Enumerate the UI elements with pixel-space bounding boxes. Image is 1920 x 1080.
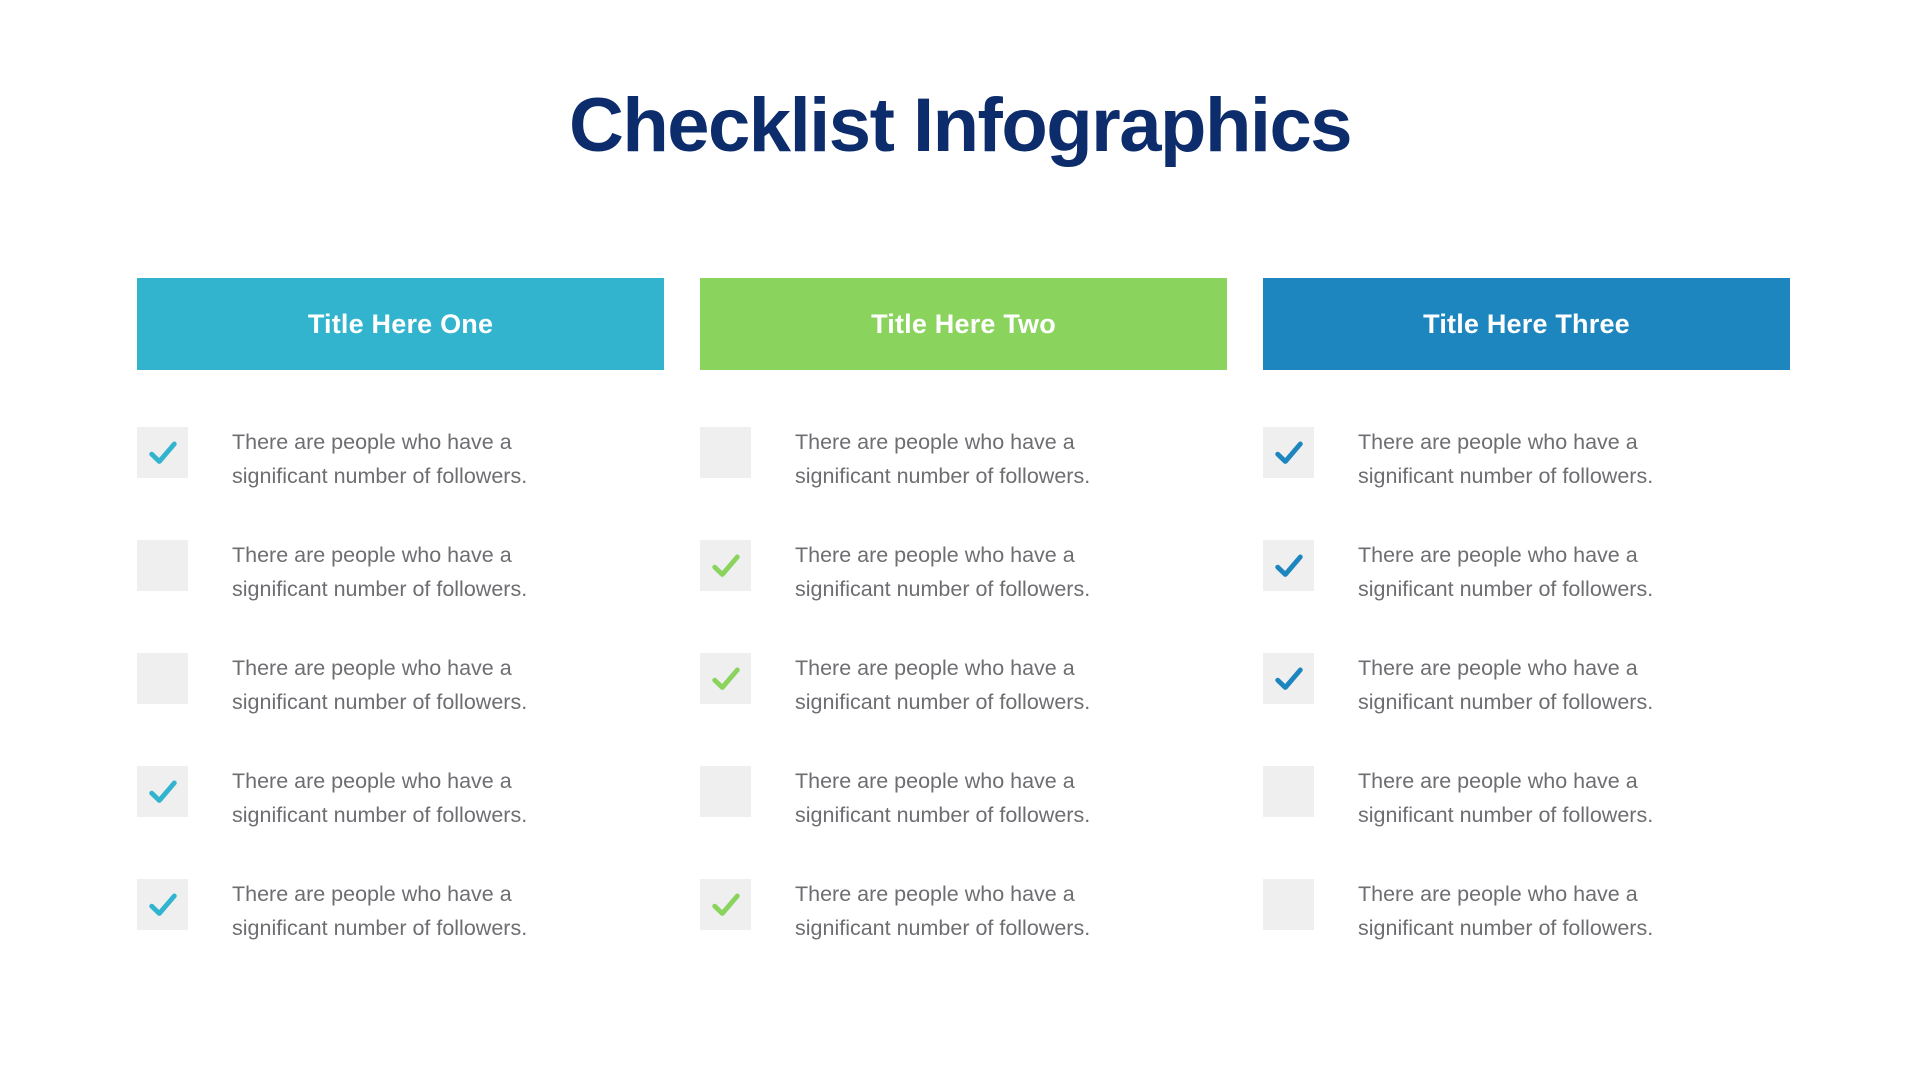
checklist-columns: Title Here OneThere are people who have … xyxy=(137,278,1790,990)
checklist-item[interactable]: There are people who have a significant … xyxy=(700,877,1227,990)
check-icon xyxy=(709,888,743,922)
checklist-item[interactable]: There are people who have a significant … xyxy=(1263,425,1790,538)
checklist-item-text: There are people who have a significant … xyxy=(232,764,592,832)
checklist-item[interactable]: There are people who have a significant … xyxy=(700,538,1227,651)
checklist-3: There are people who have a significant … xyxy=(1263,425,1790,990)
checkbox-unchecked[interactable] xyxy=(137,653,188,704)
checklist-item[interactable]: There are people who have a significant … xyxy=(137,538,664,651)
check-icon xyxy=(146,775,180,809)
checkbox-unchecked[interactable] xyxy=(1263,879,1314,930)
checklist-column-3: Title Here ThreeThere are people who hav… xyxy=(1263,278,1790,990)
checkbox-checked[interactable] xyxy=(700,879,751,930)
column-header-2[interactable]: Title Here Two xyxy=(700,278,1227,370)
checklist-item-text: There are people who have a significant … xyxy=(1358,425,1718,493)
checklist-item-text: There are people who have a significant … xyxy=(1358,877,1718,945)
checkbox-unchecked[interactable] xyxy=(700,427,751,478)
check-icon xyxy=(146,888,180,922)
check-icon xyxy=(1272,436,1306,470)
checklist-item-text: There are people who have a significant … xyxy=(232,538,592,606)
column-header-label: Title Here One xyxy=(308,311,493,338)
checklist-item-text: There are people who have a significant … xyxy=(1358,538,1718,606)
checklist-item[interactable]: There are people who have a significant … xyxy=(1263,764,1790,877)
checklist-item-text: There are people who have a significant … xyxy=(232,877,592,945)
checklist-2: There are people who have a significant … xyxy=(700,425,1227,990)
checklist-item[interactable]: There are people who have a significant … xyxy=(700,651,1227,764)
checklist-item[interactable]: There are people who have a significant … xyxy=(1263,538,1790,651)
checklist-item[interactable]: There are people who have a significant … xyxy=(137,877,664,990)
checklist-item[interactable]: There are people who have a significant … xyxy=(137,651,664,764)
checklist-item[interactable]: There are people who have a significant … xyxy=(137,764,664,877)
checklist-item-text: There are people who have a significant … xyxy=(1358,764,1718,832)
check-icon xyxy=(1272,549,1306,583)
checklist-item-text: There are people who have a significant … xyxy=(795,764,1155,832)
checkbox-unchecked[interactable] xyxy=(1263,766,1314,817)
check-icon xyxy=(709,662,743,696)
checklist-item-text: There are people who have a significant … xyxy=(795,877,1155,945)
checkbox-checked[interactable] xyxy=(1263,427,1314,478)
checklist-item-text: There are people who have a significant … xyxy=(795,425,1155,493)
checklist-item[interactable]: There are people who have a significant … xyxy=(1263,877,1790,990)
checklist-column-1: Title Here OneThere are people who have … xyxy=(137,278,664,990)
checklist-item[interactable]: There are people who have a significant … xyxy=(700,425,1227,538)
checkbox-checked[interactable] xyxy=(700,540,751,591)
checklist-item-text: There are people who have a significant … xyxy=(232,425,592,493)
checklist-item[interactable]: There are people who have a significant … xyxy=(137,425,664,538)
column-header-3[interactable]: Title Here Three xyxy=(1263,278,1790,370)
checklist-1: There are people who have a significant … xyxy=(137,425,664,990)
checkbox-checked[interactable] xyxy=(137,427,188,478)
column-header-1[interactable]: Title Here One xyxy=(137,278,664,370)
checkbox-checked[interactable] xyxy=(1263,653,1314,704)
check-icon xyxy=(146,436,180,470)
checklist-column-2: Title Here TwoThere are people who have … xyxy=(700,278,1227,990)
check-icon xyxy=(709,549,743,583)
checklist-item-text: There are people who have a significant … xyxy=(232,651,592,719)
checklist-item[interactable]: There are people who have a significant … xyxy=(700,764,1227,877)
checklist-item[interactable]: There are people who have a significant … xyxy=(1263,651,1790,764)
check-icon xyxy=(1272,662,1306,696)
checkbox-checked[interactable] xyxy=(700,653,751,704)
checklist-infographic-slide: Checklist Infographics Title Here OneThe… xyxy=(0,0,1920,1080)
checklist-item-text: There are people who have a significant … xyxy=(795,538,1155,606)
checkbox-checked[interactable] xyxy=(137,879,188,930)
checkbox-checked[interactable] xyxy=(1263,540,1314,591)
checklist-item-text: There are people who have a significant … xyxy=(1358,651,1718,719)
checkbox-unchecked[interactable] xyxy=(700,766,751,817)
page-title: Checklist Infographics xyxy=(0,78,1920,174)
column-header-label: Title Here Two xyxy=(871,311,1056,338)
checkbox-unchecked[interactable] xyxy=(137,540,188,591)
checkbox-checked[interactable] xyxy=(137,766,188,817)
column-header-label: Title Here Three xyxy=(1423,311,1630,338)
checklist-item-text: There are people who have a significant … xyxy=(795,651,1155,719)
